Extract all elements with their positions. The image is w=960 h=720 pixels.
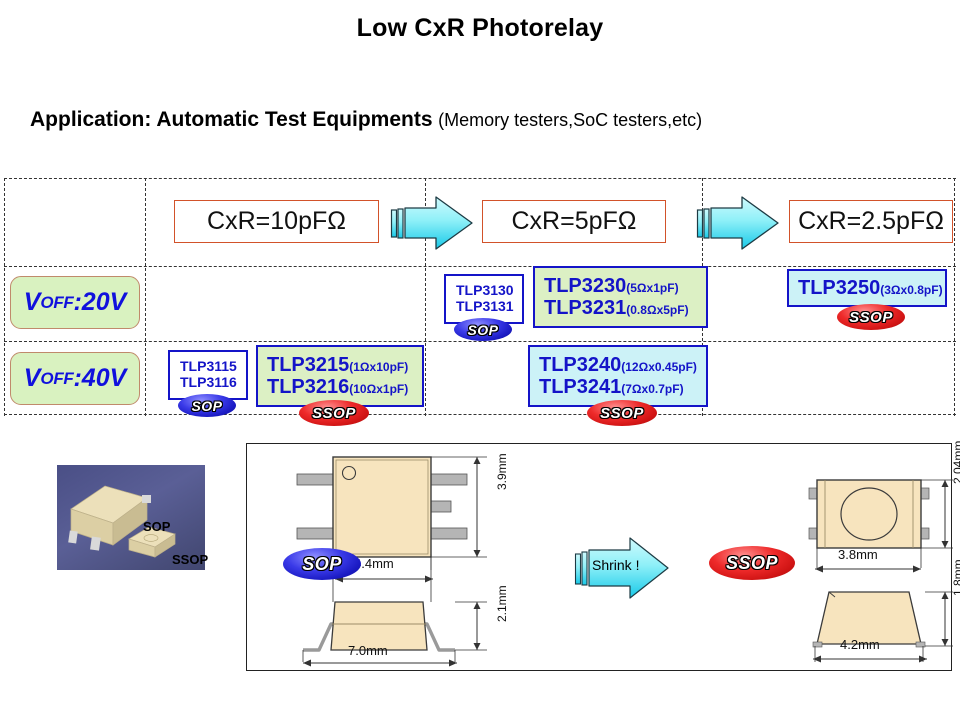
sop-top-height-dim: 3.9mm — [495, 453, 509, 490]
badge-ssop-package: SSOP — [709, 546, 795, 580]
ssop-top-width-dim-line — [813, 562, 923, 576]
ssop-side-height-dim: 1.8mm — [951, 559, 960, 596]
cxr-header-2.5pf: CxR=2.5pFΩ — [789, 200, 953, 243]
ssop-side-width-dim-line — [811, 652, 929, 666]
grid-line-v-right — [954, 178, 955, 416]
grid-line-v-1 — [145, 178, 146, 416]
voff-20v-sub: OFF — [40, 293, 73, 313]
grid-line-h-top — [4, 178, 956, 179]
part-label: TLP3131 — [446, 299, 522, 315]
grid-line-h-bottom — [4, 414, 956, 415]
product-matrix: CxR=10pFΩ CxR=5pFΩ CxR=2.5pFΩ VOFF:20V V… — [4, 178, 956, 416]
voff-40v-sub: OFF — [40, 369, 73, 389]
part-label: TLP3231(0.8Ωx5pF) — [535, 297, 706, 319]
part-group-3215[interactable]: TLP3215(1Ωx10pF) TLP3216(10Ωx1pF) — [256, 345, 424, 407]
sop-side-width-dim-line — [301, 656, 459, 670]
voff-20v-value: :20V — [73, 288, 126, 317]
voff-40v-v: V — [24, 364, 41, 393]
part-label: TLP3216(10Ωx1pF) — [258, 376, 422, 398]
badge-ssop-3215: SSOP — [299, 400, 369, 426]
photo-label-ssop: SSOP — [172, 552, 208, 567]
page-title: Low CxR Photorelay — [0, 14, 960, 43]
application-line: Application: Automatic Test Equipments (… — [30, 108, 950, 132]
part-group-3130[interactable]: TLP3130 TLP3131 — [444, 274, 524, 324]
badge-sop-package: SOP — [283, 548, 361, 580]
part-group-3250[interactable]: TLP3250(3Ωx0.8pF) — [787, 269, 947, 307]
part-label: TLP3215(1Ωx10pF) — [258, 354, 422, 376]
ssop-top-width-dim: 3.8mm — [838, 547, 878, 562]
part-label: TLP3130 — [446, 283, 522, 299]
sop-side-height-dim: 2.1mm — [495, 585, 509, 622]
grid-line-h-1 — [4, 266, 956, 267]
part-group-3115[interactable]: TLP3115 TLP3116 — [168, 350, 248, 400]
badge-sop-3130: SOP — [454, 318, 512, 341]
transition-arrow-2 — [696, 196, 780, 255]
package-drawing-panel: 3.9mm 4.4mm 2.1mm 7.0mm SOP — [246, 443, 952, 671]
badge-ssop-3240: SSOP — [587, 400, 657, 426]
transition-arrow-1 — [390, 196, 474, 255]
cxr-header-10pf: CxR=10pFΩ — [174, 200, 379, 243]
shrink-label: Shrink ! — [592, 557, 639, 573]
badge-sop-3115: SOP — [178, 394, 236, 417]
part-label: TLP3115 — [170, 359, 246, 375]
part-group-3230[interactable]: TLP3230(5Ωx1pF) TLP3231(0.8Ωx5pF) — [533, 266, 708, 328]
application-heading: Application: Automatic Test Equipments — [30, 108, 433, 131]
badge-ssop-3250: SSOP — [837, 304, 905, 330]
application-note: (Memory testers,SoC testers,etc) — [438, 110, 702, 130]
ssop-top-view-drawing — [803, 472, 960, 572]
sop-side-width-dim: 7.0mm — [348, 643, 388, 658]
cxr-header-5pf: CxR=5pFΩ — [482, 200, 666, 243]
part-label: TLP3241(7Ωx0.7pF) — [530, 376, 706, 398]
grid-line-h-2 — [4, 341, 956, 342]
part-label: TLP3240(12Ωx0.45pF) — [530, 354, 706, 376]
sop-side-view-drawing — [269, 594, 519, 664]
grid-line-v-left — [4, 178, 5, 416]
voff-label-40v: VOFF:40V — [10, 352, 140, 405]
photo-label-sop: SOP — [143, 519, 170, 534]
voff-40v-value: :40V — [73, 364, 126, 393]
part-label: TLP3116 — [170, 375, 246, 391]
ssop-top-height-dim: 2.04mm — [951, 441, 960, 484]
voff-20v-v: V — [24, 288, 41, 317]
ssop-side-width-dim: 4.2mm — [840, 637, 880, 652]
voff-label-20v: VOFF:20V — [10, 276, 140, 329]
part-label: TLP3230(5Ωx1pF) — [535, 275, 706, 297]
part-label: TLP3250(3Ωx0.8pF) — [789, 277, 945, 299]
part-group-3240[interactable]: TLP3240(12Ωx0.45pF) TLP3241(7Ωx0.7pF) — [528, 345, 708, 407]
